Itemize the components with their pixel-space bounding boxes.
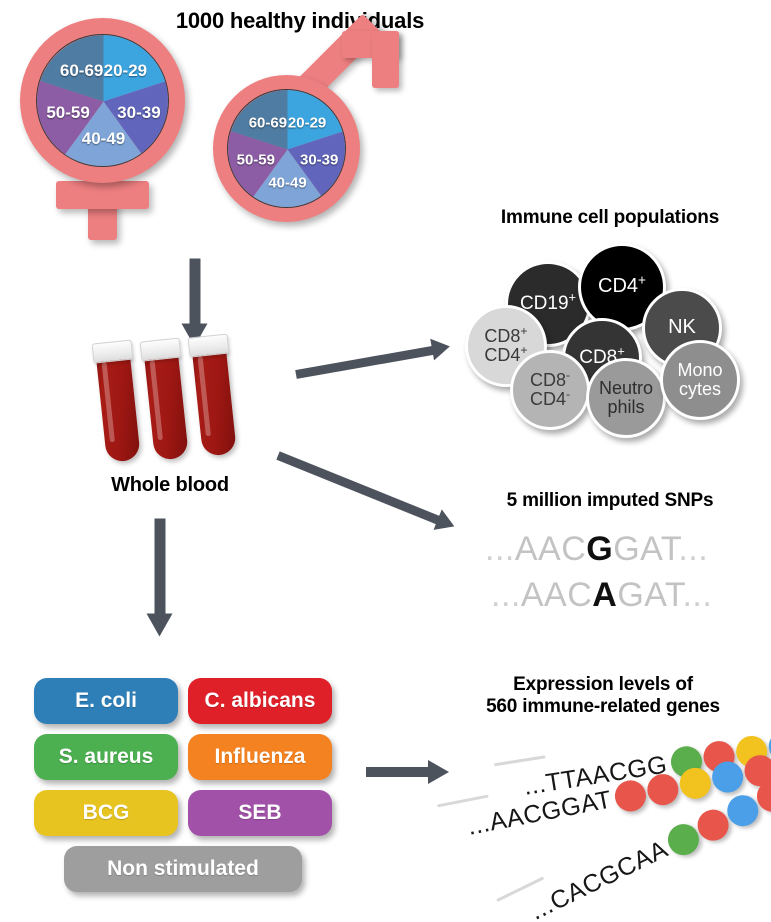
gene-strand-sequence: ...CACGCAA xyxy=(526,834,675,922)
gene-bead xyxy=(677,765,713,801)
gene-bead xyxy=(613,778,649,814)
gene-expression-strands: ...TTAACGG...AACGGAT...CACGCAA xyxy=(0,0,771,922)
gene-bead xyxy=(645,771,681,807)
gene-strand-rule xyxy=(437,795,489,808)
figure-canvas: 1000 healthy individuals 20-2930-3940-49… xyxy=(0,0,771,922)
gene-strand-rule xyxy=(494,755,546,766)
gene-bead xyxy=(710,759,746,795)
